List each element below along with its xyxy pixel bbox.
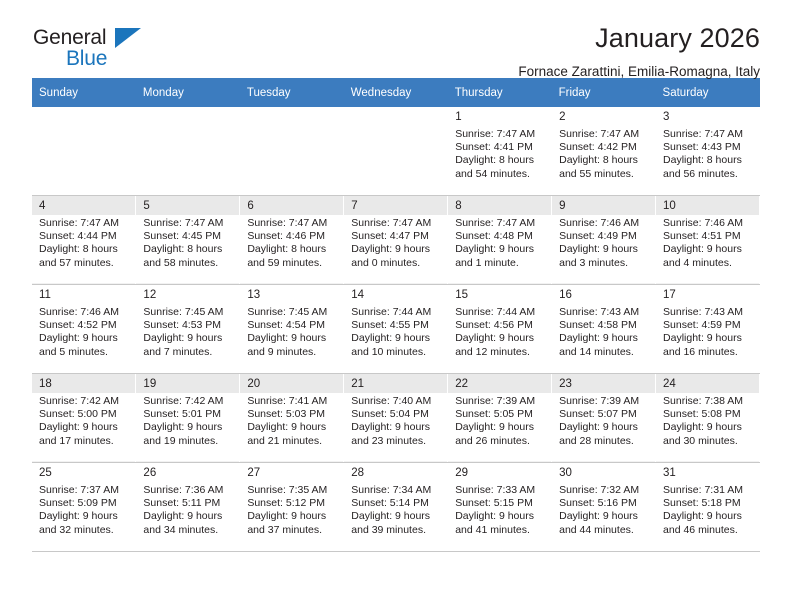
day-detail-line: Sunset: 4:54 PM	[247, 319, 338, 332]
day-detail-line: and 1 minute.	[455, 257, 546, 270]
day-detail-line: Sunrise: 7:37 AM	[39, 484, 130, 497]
day-number: 14	[344, 285, 447, 304]
calendar-body: 1Sunrise: 7:47 AMSunset: 4:41 PMDaylight…	[32, 107, 760, 552]
calendar-day-cell[interactable]: 4Sunrise: 7:47 AMSunset: 4:44 PMDaylight…	[32, 196, 136, 285]
day-detail-line: Daylight: 9 hours	[351, 510, 442, 523]
day-detail-line: and 19 minutes.	[143, 435, 234, 448]
day-detail-line: Sunrise: 7:47 AM	[143, 217, 234, 230]
day-number: 21	[344, 374, 447, 393]
day-number: 15	[448, 285, 551, 304]
day-detail-line: Sunset: 4:55 PM	[351, 319, 442, 332]
day-detail-line: Daylight: 9 hours	[351, 332, 442, 345]
day-detail-line: Sunrise: 7:39 AM	[559, 395, 650, 408]
day-detail-line: Sunset: 5:05 PM	[455, 408, 546, 421]
calendar-day-cell[interactable]: 9Sunrise: 7:46 AMSunset: 4:49 PMDaylight…	[552, 196, 656, 285]
day-details: Sunrise: 7:47 AMSunset: 4:43 PMDaylight:…	[656, 126, 759, 194]
day-detail-line: and 5 minutes.	[39, 346, 130, 359]
day-detail-line: and 17 minutes.	[39, 435, 130, 448]
calendar-week-row: 25Sunrise: 7:37 AMSunset: 5:09 PMDayligh…	[32, 463, 760, 552]
day-detail-line: Daylight: 9 hours	[663, 332, 754, 345]
calendar-empty-cell	[240, 107, 344, 196]
day-detail-line: and 21 minutes.	[247, 435, 338, 448]
day-details: Sunrise: 7:32 AMSunset: 5:16 PMDaylight:…	[552, 482, 655, 550]
day-detail-line: Daylight: 9 hours	[559, 332, 650, 345]
day-detail-line: Sunset: 5:16 PM	[559, 497, 650, 510]
day-detail-line: and 4 minutes.	[663, 257, 754, 270]
day-number: 17	[656, 285, 759, 304]
day-details: Sunrise: 7:46 AMSunset: 4:49 PMDaylight:…	[552, 215, 655, 283]
day-detail-line: Daylight: 9 hours	[351, 243, 442, 256]
calendar-day-cell[interactable]: 11Sunrise: 7:46 AMSunset: 4:52 PMDayligh…	[32, 285, 136, 374]
day-detail-line: Sunset: 5:00 PM	[39, 408, 130, 421]
day-details: Sunrise: 7:42 AMSunset: 5:00 PMDaylight:…	[32, 393, 135, 461]
day-detail-line: Sunrise: 7:42 AM	[143, 395, 234, 408]
day-number: 20	[240, 374, 343, 393]
day-detail-line: Sunrise: 7:46 AM	[559, 217, 650, 230]
calendar-empty-cell	[344, 107, 448, 196]
day-details	[32, 126, 135, 194]
day-number: 1	[448, 107, 551, 126]
calendar-day-cell[interactable]: 18Sunrise: 7:42 AMSunset: 5:00 PMDayligh…	[32, 374, 136, 463]
day-detail-line: Sunrise: 7:33 AM	[455, 484, 546, 497]
day-number: 19	[136, 374, 239, 393]
day-detail-line: Sunset: 5:01 PM	[143, 408, 234, 421]
weekday-header-sunday: Sunday	[32, 78, 136, 107]
weekday-header-saturday: Saturday	[656, 78, 760, 107]
day-detail-line: Daylight: 8 hours	[455, 154, 546, 167]
day-detail-line: Daylight: 8 hours	[39, 243, 130, 256]
day-number: 27	[240, 463, 343, 482]
day-number: 24	[656, 374, 759, 393]
calendar-day-cell[interactable]: 12Sunrise: 7:45 AMSunset: 4:53 PMDayligh…	[136, 285, 240, 374]
day-detail-line: Sunset: 4:58 PM	[559, 319, 650, 332]
day-detail-line: Sunrise: 7:47 AM	[663, 128, 754, 141]
day-details: Sunrise: 7:41 AMSunset: 5:03 PMDaylight:…	[240, 393, 343, 461]
day-detail-line: Sunrise: 7:39 AM	[455, 395, 546, 408]
day-detail-line: Sunset: 4:56 PM	[455, 319, 546, 332]
day-number: 6	[240, 196, 343, 215]
day-number: 9	[552, 196, 655, 215]
day-details: Sunrise: 7:40 AMSunset: 5:04 PMDaylight:…	[344, 393, 447, 461]
day-detail-line: Sunset: 4:51 PM	[663, 230, 754, 243]
day-details: Sunrise: 7:39 AMSunset: 5:07 PMDaylight:…	[552, 393, 655, 461]
calendar-day-cell[interactable]: 31Sunrise: 7:31 AMSunset: 5:18 PMDayligh…	[656, 463, 760, 552]
day-details: Sunrise: 7:43 AMSunset: 4:58 PMDaylight:…	[552, 304, 655, 372]
day-detail-line: Sunset: 5:18 PM	[663, 497, 754, 510]
day-detail-line: Daylight: 9 hours	[247, 421, 338, 434]
day-detail-line: and 12 minutes.	[455, 346, 546, 359]
day-detail-line: Sunrise: 7:35 AM	[247, 484, 338, 497]
day-details: Sunrise: 7:34 AMSunset: 5:14 PMDaylight:…	[344, 482, 447, 550]
day-details: Sunrise: 7:45 AMSunset: 4:53 PMDaylight:…	[136, 304, 239, 372]
day-number: 16	[552, 285, 655, 304]
day-detail-line: Sunrise: 7:36 AM	[143, 484, 234, 497]
day-detail-line: Sunrise: 7:47 AM	[455, 128, 546, 141]
calendar-day-cell[interactable]: 26Sunrise: 7:36 AMSunset: 5:11 PMDayligh…	[136, 463, 240, 552]
day-detail-line: Sunset: 5:03 PM	[247, 408, 338, 421]
day-number: 30	[552, 463, 655, 482]
day-number: 10	[656, 196, 759, 215]
day-detail-line: Daylight: 8 hours	[143, 243, 234, 256]
day-details: Sunrise: 7:35 AMSunset: 5:12 PMDaylight:…	[240, 482, 343, 550]
day-detail-line: Daylight: 9 hours	[559, 243, 650, 256]
day-detail-line: Daylight: 9 hours	[559, 510, 650, 523]
day-details: Sunrise: 7:36 AMSunset: 5:11 PMDaylight:…	[136, 482, 239, 550]
day-number: 8	[448, 196, 551, 215]
calendar-day-cell[interactable]: 23Sunrise: 7:39 AMSunset: 5:07 PMDayligh…	[552, 374, 656, 463]
day-details: Sunrise: 7:47 AMSunset: 4:48 PMDaylight:…	[448, 215, 551, 283]
day-details: Sunrise: 7:45 AMSunset: 4:54 PMDaylight:…	[240, 304, 343, 372]
day-details: Sunrise: 7:47 AMSunset: 4:46 PMDaylight:…	[240, 215, 343, 283]
day-detail-line: and 23 minutes.	[351, 435, 442, 448]
calendar-day-cell[interactable]: 6Sunrise: 7:47 AMSunset: 4:46 PMDaylight…	[240, 196, 344, 285]
day-details: Sunrise: 7:43 AMSunset: 4:59 PMDaylight:…	[656, 304, 759, 372]
day-details: Sunrise: 7:38 AMSunset: 5:08 PMDaylight:…	[656, 393, 759, 461]
day-detail-line: Sunset: 5:04 PM	[351, 408, 442, 421]
calendar-day-cell[interactable]: 29Sunrise: 7:33 AMSunset: 5:15 PMDayligh…	[448, 463, 552, 552]
day-detail-line: Daylight: 9 hours	[559, 421, 650, 434]
day-detail-line: Sunrise: 7:47 AM	[39, 217, 130, 230]
day-details: Sunrise: 7:47 AMSunset: 4:44 PMDaylight:…	[32, 215, 135, 283]
day-detail-line: and 32 minutes.	[39, 524, 130, 537]
day-number: 26	[136, 463, 239, 482]
day-detail-line: and 26 minutes.	[455, 435, 546, 448]
calendar-day-cell[interactable]: 5Sunrise: 7:47 AMSunset: 4:45 PMDaylight…	[136, 196, 240, 285]
day-detail-line: Daylight: 9 hours	[455, 510, 546, 523]
day-detail-line: Sunrise: 7:47 AM	[455, 217, 546, 230]
calendar-page: General Blue January 2026 Fornace Zaratt…	[0, 0, 792, 612]
day-number: 4	[32, 196, 135, 215]
day-detail-line: Sunset: 5:07 PM	[559, 408, 650, 421]
calendar-day-cell[interactable]: 16Sunrise: 7:43 AMSunset: 4:58 PMDayligh…	[552, 285, 656, 374]
calendar-day-cell[interactable]: 13Sunrise: 7:45 AMSunset: 4:54 PMDayligh…	[240, 285, 344, 374]
calendar-empty-cell	[136, 107, 240, 196]
day-details: Sunrise: 7:47 AMSunset: 4:41 PMDaylight:…	[448, 126, 551, 194]
day-detail-line: Sunrise: 7:47 AM	[559, 128, 650, 141]
calendar-day-cell[interactable]: 20Sunrise: 7:41 AMSunset: 5:03 PMDayligh…	[240, 374, 344, 463]
day-number: 2	[552, 107, 655, 126]
day-detail-line: Daylight: 9 hours	[663, 243, 754, 256]
day-details: Sunrise: 7:31 AMSunset: 5:18 PMDaylight:…	[656, 482, 759, 550]
calendar-day-cell[interactable]: 27Sunrise: 7:35 AMSunset: 5:12 PMDayligh…	[240, 463, 344, 552]
logo-text-blue: Blue	[66, 47, 107, 71]
day-detail-line: and 9 minutes.	[247, 346, 338, 359]
day-detail-line: Sunset: 4:42 PM	[559, 141, 650, 154]
day-detail-line: Sunset: 4:47 PM	[351, 230, 442, 243]
weekday-header-friday: Friday	[552, 78, 656, 107]
day-details: Sunrise: 7:42 AMSunset: 5:01 PMDaylight:…	[136, 393, 239, 461]
day-detail-line: and 56 minutes.	[663, 168, 754, 181]
day-detail-line: Sunrise: 7:46 AM	[663, 217, 754, 230]
page-subtitle: Fornace Zarattini, Emilia-Romagna, Italy	[518, 64, 760, 80]
day-detail-line: and 57 minutes.	[39, 257, 130, 270]
day-number: 28	[344, 463, 447, 482]
day-detail-line: and 16 minutes.	[663, 346, 754, 359]
day-detail-line: Sunset: 5:08 PM	[663, 408, 754, 421]
day-detail-line: Sunrise: 7:34 AM	[351, 484, 442, 497]
day-detail-line: Sunset: 4:52 PM	[39, 319, 130, 332]
day-detail-line: Daylight: 9 hours	[39, 421, 130, 434]
day-detail-line: and 55 minutes.	[559, 168, 650, 181]
generalblue-logo[interactable]: General Blue	[33, 26, 163, 74]
day-number	[32, 107, 135, 126]
day-detail-line: and 14 minutes.	[559, 346, 650, 359]
day-number: 25	[32, 463, 135, 482]
day-details: Sunrise: 7:47 AMSunset: 4:42 PMDaylight:…	[552, 126, 655, 194]
day-detail-line: Daylight: 8 hours	[559, 154, 650, 167]
day-detail-line: Sunrise: 7:40 AM	[351, 395, 442, 408]
day-detail-line: Sunset: 5:15 PM	[455, 497, 546, 510]
calendar-day-cell[interactable]: 10Sunrise: 7:46 AMSunset: 4:51 PMDayligh…	[656, 196, 760, 285]
calendar-week-row: 1Sunrise: 7:47 AMSunset: 4:41 PMDaylight…	[32, 107, 760, 196]
page-header: General Blue January 2026 Fornace Zaratt…	[32, 0, 760, 78]
day-detail-line: Daylight: 9 hours	[143, 421, 234, 434]
calendar-week-row: 4Sunrise: 7:47 AMSunset: 4:44 PMDaylight…	[32, 196, 760, 285]
calendar-day-cell[interactable]: 21Sunrise: 7:40 AMSunset: 5:04 PMDayligh…	[344, 374, 448, 463]
day-detail-line: Sunset: 4:48 PM	[455, 230, 546, 243]
calendar-day-cell[interactable]: 22Sunrise: 7:39 AMSunset: 5:05 PMDayligh…	[448, 374, 552, 463]
day-detail-line: and 37 minutes.	[247, 524, 338, 537]
weekday-header-thursday: Thursday	[448, 78, 552, 107]
weekday-header-monday: Monday	[136, 78, 240, 107]
day-detail-line: Sunrise: 7:46 AM	[39, 306, 130, 319]
calendar-day-cell[interactable]: 2Sunrise: 7:47 AMSunset: 4:42 PMDaylight…	[552, 107, 656, 196]
calendar-day-cell[interactable]: 3Sunrise: 7:47 AMSunset: 4:43 PMDaylight…	[656, 107, 760, 196]
calendar-day-cell[interactable]: 25Sunrise: 7:37 AMSunset: 5:09 PMDayligh…	[32, 463, 136, 552]
day-detail-line: and 30 minutes.	[663, 435, 754, 448]
day-detail-line: and 28 minutes.	[559, 435, 650, 448]
day-detail-line: Sunset: 5:12 PM	[247, 497, 338, 510]
day-detail-line: Sunrise: 7:47 AM	[247, 217, 338, 230]
day-detail-line: and 41 minutes.	[455, 524, 546, 537]
calendar-week-row: 18Sunrise: 7:42 AMSunset: 5:00 PMDayligh…	[32, 374, 760, 463]
day-detail-line: Daylight: 9 hours	[247, 510, 338, 523]
day-number: 23	[552, 374, 655, 393]
day-detail-line: and 0 minutes.	[351, 257, 442, 270]
day-details: Sunrise: 7:37 AMSunset: 5:09 PMDaylight:…	[32, 482, 135, 550]
calendar-empty-cell	[32, 107, 136, 196]
day-details	[344, 126, 447, 194]
day-detail-line: Sunrise: 7:43 AM	[663, 306, 754, 319]
day-details	[240, 126, 343, 194]
page-title: January 2026	[518, 22, 760, 54]
day-detail-line: Daylight: 8 hours	[663, 154, 754, 167]
day-detail-line: Daylight: 9 hours	[143, 332, 234, 345]
weekday-header-wednesday: Wednesday	[344, 78, 448, 107]
day-detail-line: Daylight: 9 hours	[247, 332, 338, 345]
calendar-day-cell[interactable]: 1Sunrise: 7:47 AMSunset: 4:41 PMDaylight…	[448, 107, 552, 196]
calendar-day-cell[interactable]: 19Sunrise: 7:42 AMSunset: 5:01 PMDayligh…	[136, 374, 240, 463]
day-detail-line: Sunset: 4:44 PM	[39, 230, 130, 243]
calendar-week-row: 11Sunrise: 7:46 AMSunset: 4:52 PMDayligh…	[32, 285, 760, 374]
day-number: 12	[136, 285, 239, 304]
day-detail-line: Daylight: 9 hours	[39, 332, 130, 345]
calendar-day-cell[interactable]: 17Sunrise: 7:43 AMSunset: 4:59 PMDayligh…	[656, 285, 760, 374]
calendar-day-cell[interactable]: 28Sunrise: 7:34 AMSunset: 5:14 PMDayligh…	[344, 463, 448, 552]
day-detail-line: Sunrise: 7:32 AM	[559, 484, 650, 497]
calendar-header-row: Sunday Monday Tuesday Wednesday Thursday…	[32, 78, 760, 107]
day-detail-line: Sunset: 4:59 PM	[663, 319, 754, 332]
day-detail-line: and 58 minutes.	[143, 257, 234, 270]
calendar-day-cell[interactable]: 14Sunrise: 7:44 AMSunset: 4:55 PMDayligh…	[344, 285, 448, 374]
day-detail-line: Daylight: 9 hours	[455, 421, 546, 434]
day-detail-line: Daylight: 8 hours	[247, 243, 338, 256]
day-details	[136, 126, 239, 194]
day-detail-line: and 10 minutes.	[351, 346, 442, 359]
calendar-day-cell[interactable]: 8Sunrise: 7:47 AMSunset: 4:48 PMDaylight…	[448, 196, 552, 285]
day-number: 11	[32, 285, 135, 304]
day-number	[240, 107, 343, 126]
weekday-header-tuesday: Tuesday	[240, 78, 344, 107]
day-detail-line: Sunset: 4:49 PM	[559, 230, 650, 243]
day-detail-line: Sunset: 5:14 PM	[351, 497, 442, 510]
day-detail-line: and 46 minutes.	[663, 524, 754, 537]
day-number: 22	[448, 374, 551, 393]
day-detail-line: and 59 minutes.	[247, 257, 338, 270]
day-number: 3	[656, 107, 759, 126]
day-details: Sunrise: 7:44 AMSunset: 4:55 PMDaylight:…	[344, 304, 447, 372]
day-detail-line: Sunset: 5:09 PM	[39, 497, 130, 510]
day-details: Sunrise: 7:46 AMSunset: 4:51 PMDaylight:…	[656, 215, 759, 283]
day-number	[136, 107, 239, 126]
logo-triangle-icon	[115, 28, 141, 48]
day-detail-line: Sunset: 4:46 PM	[247, 230, 338, 243]
day-detail-line: Daylight: 9 hours	[39, 510, 130, 523]
day-detail-line: and 44 minutes.	[559, 524, 650, 537]
calendar-day-cell[interactable]: 24Sunrise: 7:38 AMSunset: 5:08 PMDayligh…	[656, 374, 760, 463]
day-details: Sunrise: 7:47 AMSunset: 4:45 PMDaylight:…	[136, 215, 239, 283]
day-detail-line: Sunrise: 7:42 AM	[39, 395, 130, 408]
day-detail-line: Daylight: 9 hours	[455, 243, 546, 256]
day-detail-line: and 3 minutes.	[559, 257, 650, 270]
day-detail-line: Sunset: 4:53 PM	[143, 319, 234, 332]
day-number: 29	[448, 463, 551, 482]
day-number: 31	[656, 463, 759, 482]
day-detail-line: and 39 minutes.	[351, 524, 442, 537]
day-detail-line: Daylight: 9 hours	[455, 332, 546, 345]
day-detail-line: Sunset: 4:41 PM	[455, 141, 546, 154]
day-detail-line: Sunrise: 7:41 AM	[247, 395, 338, 408]
day-detail-line: and 34 minutes.	[143, 524, 234, 537]
day-number: 7	[344, 196, 447, 215]
day-detail-line: Sunset: 4:45 PM	[143, 230, 234, 243]
day-details: Sunrise: 7:47 AMSunset: 4:47 PMDaylight:…	[344, 215, 447, 283]
day-detail-line: Sunrise: 7:47 AM	[351, 217, 442, 230]
day-detail-line: Sunrise: 7:31 AM	[663, 484, 754, 497]
day-number: 13	[240, 285, 343, 304]
day-details: Sunrise: 7:39 AMSunset: 5:05 PMDaylight:…	[448, 393, 551, 461]
day-detail-line: and 54 minutes.	[455, 168, 546, 181]
day-number: 18	[32, 374, 135, 393]
day-detail-line: Sunrise: 7:45 AM	[247, 306, 338, 319]
day-details: Sunrise: 7:46 AMSunset: 4:52 PMDaylight:…	[32, 304, 135, 372]
day-number	[344, 107, 447, 126]
day-detail-line: Sunrise: 7:44 AM	[455, 306, 546, 319]
day-detail-line: Sunrise: 7:38 AM	[663, 395, 754, 408]
day-details: Sunrise: 7:44 AMSunset: 4:56 PMDaylight:…	[448, 304, 551, 372]
day-detail-line: Daylight: 9 hours	[663, 421, 754, 434]
day-detail-line: Sunset: 4:43 PM	[663, 141, 754, 154]
title-block: January 2026 Fornace Zarattini, Emilia-R…	[518, 22, 760, 80]
day-detail-line: Sunrise: 7:45 AM	[143, 306, 234, 319]
day-detail-line: Sunrise: 7:43 AM	[559, 306, 650, 319]
calendar-day-cell[interactable]: 30Sunrise: 7:32 AMSunset: 5:16 PMDayligh…	[552, 463, 656, 552]
day-detail-line: Sunset: 5:11 PM	[143, 497, 234, 510]
calendar-day-cell[interactable]: 15Sunrise: 7:44 AMSunset: 4:56 PMDayligh…	[448, 285, 552, 374]
day-detail-line: Sunrise: 7:44 AM	[351, 306, 442, 319]
day-details: Sunrise: 7:33 AMSunset: 5:15 PMDaylight:…	[448, 482, 551, 550]
day-detail-line: Daylight: 9 hours	[143, 510, 234, 523]
day-number: 5	[136, 196, 239, 215]
day-detail-line: Daylight: 9 hours	[351, 421, 442, 434]
calendar-day-cell[interactable]: 7Sunrise: 7:47 AMSunset: 4:47 PMDaylight…	[344, 196, 448, 285]
day-detail-line: Daylight: 9 hours	[663, 510, 754, 523]
calendar-table: Sunday Monday Tuesday Wednesday Thursday…	[32, 78, 760, 552]
day-detail-line: and 7 minutes.	[143, 346, 234, 359]
